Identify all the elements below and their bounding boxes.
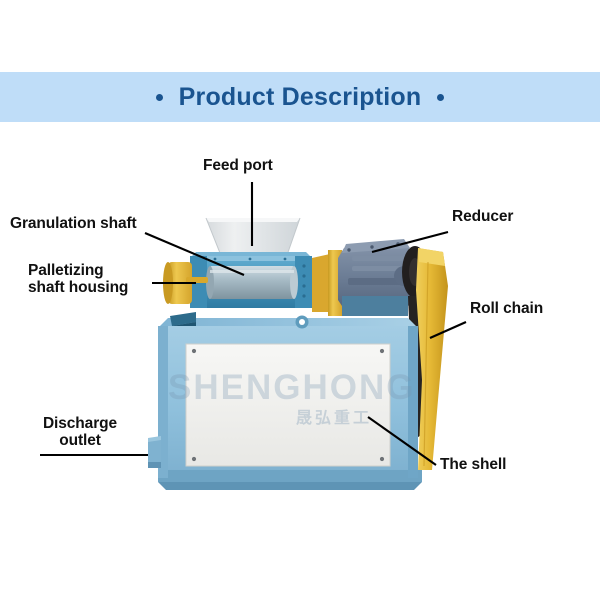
discharge-outlet [148, 436, 161, 468]
product-description-figure: Product Description [0, 0, 600, 600]
granulation-shaft-roller [206, 266, 298, 299]
label-roll-chain: Roll chain [470, 300, 543, 317]
label-granulation-shaft: Granulation shaft [10, 215, 137, 232]
label-feed-port: Feed port [203, 157, 273, 174]
the-shell [158, 312, 422, 490]
label-palletizing-shaft-housing: Palletizing shaft housing [28, 262, 128, 297]
right-yellow-support [312, 250, 342, 316]
roll-chain-guard [416, 248, 448, 470]
lifting-eye [296, 316, 309, 329]
label-discharge-outlet: Discharge outlet [28, 415, 132, 450]
label-the-shell: The shell [440, 456, 506, 473]
label-reducer: Reducer [452, 208, 513, 225]
